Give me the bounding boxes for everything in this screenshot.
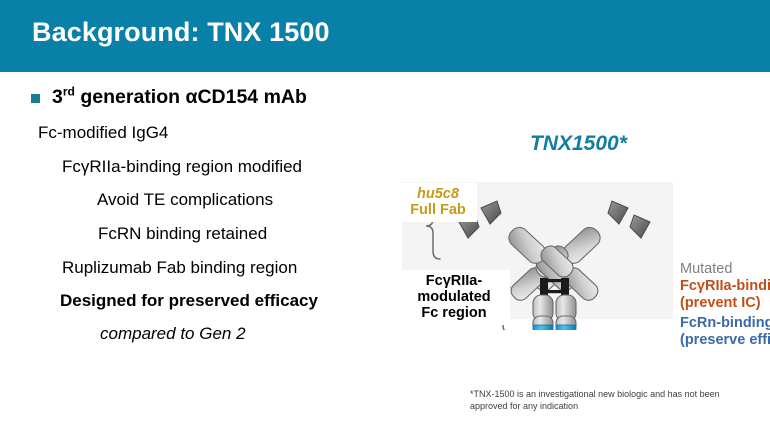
bullet-sub-1: Fc-modified IgG4: [0, 123, 392, 143]
fc-region-line2: modulated: [398, 289, 510, 305]
page-title: Background: TNX 1500: [32, 17, 330, 48]
fcrn-binding-region-label: FcRn-binding region (preserve efficacy): [680, 315, 770, 349]
square-bullet-icon: [31, 94, 40, 103]
mutated-label: Mutated: [680, 261, 732, 278]
fcrn-line2: (preserve efficacy): [680, 332, 770, 349]
fcgr2a-line1: FcγRIIa-binding region: [680, 278, 770, 295]
fc-region-label: FcγRIIa- modulated Fc region: [398, 270, 510, 325]
bullet-sub-4: FcRN binding retained: [0, 224, 392, 244]
diagram-title: TNX1500*: [530, 132, 627, 156]
bullet-sub-7: compared to Gen 2: [0, 324, 392, 344]
bullet-item-main: 3rd generation αCD154 mAb: [0, 86, 392, 108]
fcgr2a-binding-region-label: FcγRIIa-binding region (prevent IC): [680, 278, 770, 312]
hu5c8-sub: Full Fab: [399, 202, 477, 218]
footnote: *TNX-1500 is an investigational new biol…: [470, 389, 760, 412]
bullet-sub-6: Designed for preserved efficacy: [0, 291, 392, 311]
fc-region-line1: FcγRIIa-: [398, 273, 510, 289]
bullet-main-prefix: 3: [52, 86, 63, 108]
antibody-diagram: TNX1500*: [395, 125, 770, 385]
footnote-line2: approved for any indication: [470, 401, 760, 413]
bullet-sub-2: FcγRIIa-binding region modified: [0, 157, 392, 177]
bullet-main-rest: generation αCD154 mAb: [75, 86, 307, 108]
bullet-sub-3: Avoid TE complications: [0, 190, 392, 210]
bullet-main-superscript: rd: [63, 85, 75, 99]
fcrn-line1: FcRn-binding region: [680, 315, 770, 332]
bullet-sub-5: Ruplizumab Fab binding region: [0, 258, 392, 278]
hu5c8-full-fab-label: hu5c8 Full Fab: [399, 183, 477, 222]
hu5c8-name: hu5c8: [399, 186, 477, 202]
slide-title-band: Background: TNX 1500: [0, 0, 770, 72]
bullet-list: 3rd generation αCD154 mAb Fc-modified Ig…: [0, 86, 392, 344]
fcgr2a-line2: (prevent IC): [680, 295, 770, 312]
footnote-line1: *TNX-1500 is an investigational new biol…: [470, 389, 760, 401]
fc-region-line3: Fc region: [398, 305, 510, 321]
